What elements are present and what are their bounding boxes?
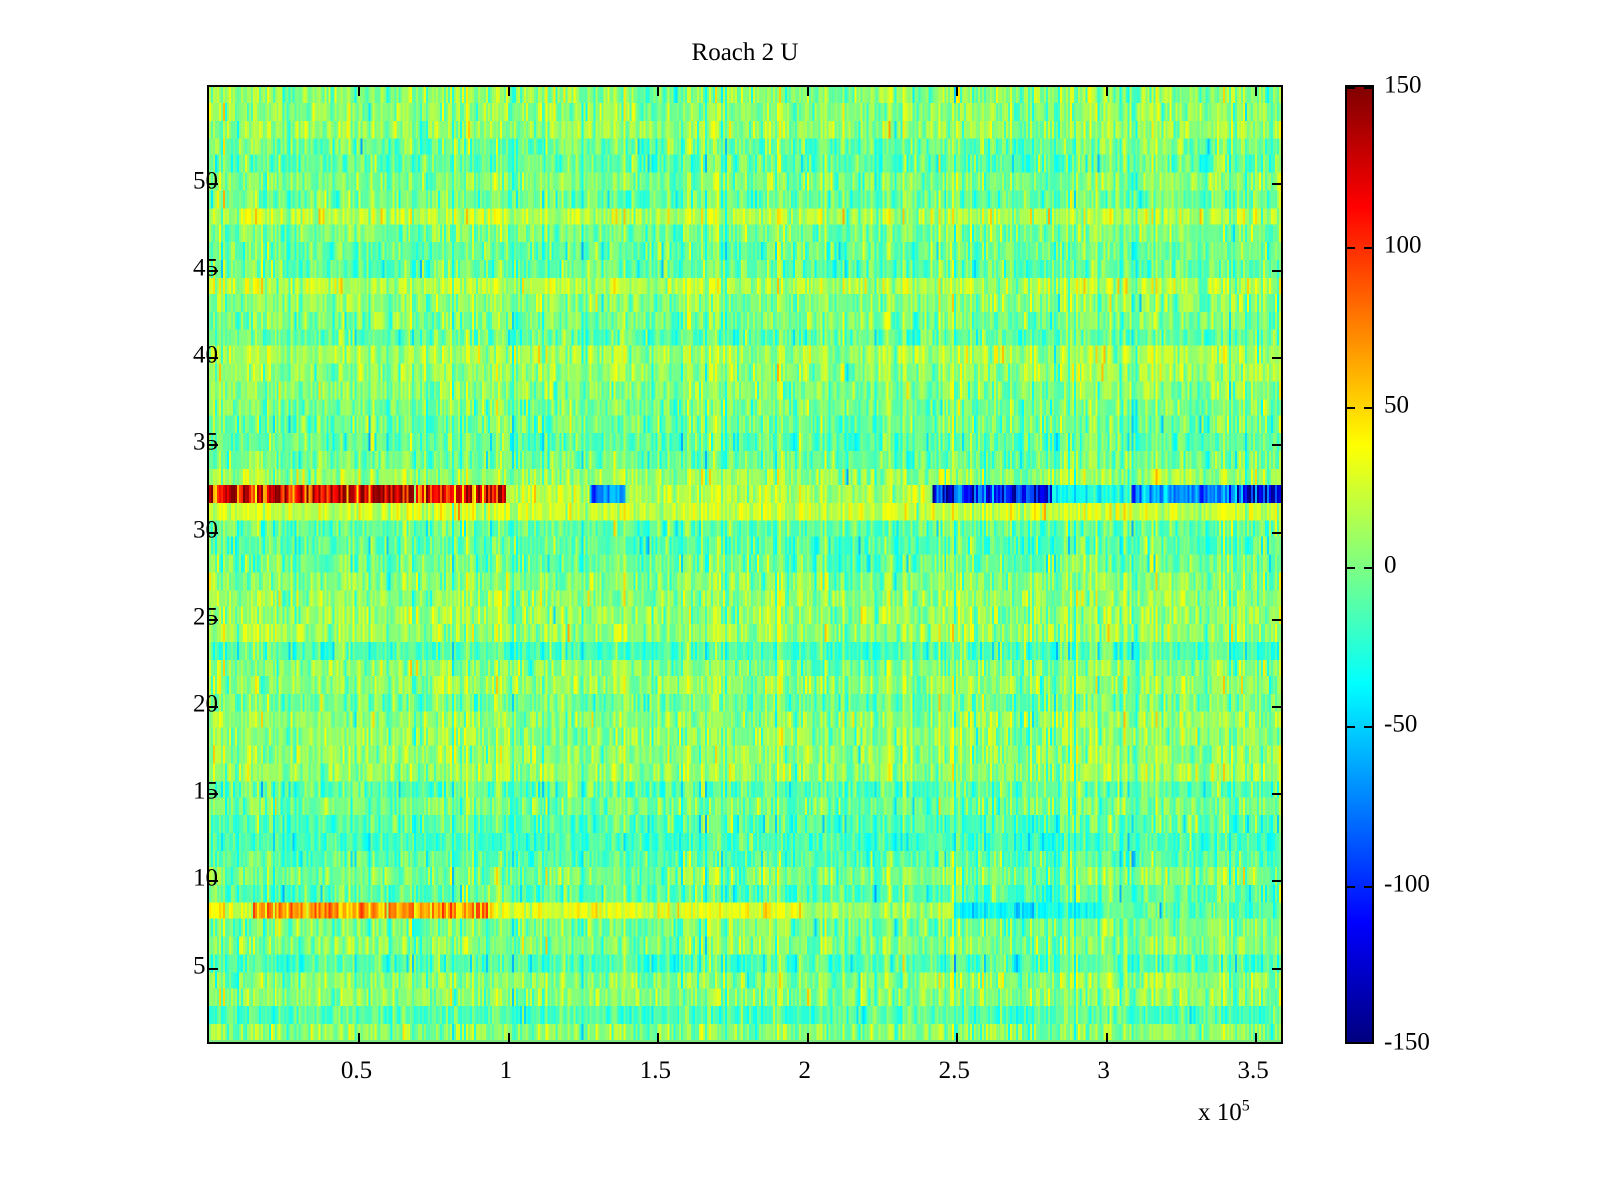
y-axis-tick [1272, 444, 1281, 446]
colorbar-tick-label: -150 [1384, 1030, 1430, 1055]
x-axis-tick [807, 87, 809, 96]
colorbar-tick-label: 100 [1384, 232, 1422, 257]
y-axis-tick [209, 357, 218, 359]
figure-canvas: Roach 2 U 0.511.522.533.5 51015202530354… [0, 0, 1600, 1200]
y-axis-tick [209, 183, 218, 185]
colorbar-tick-label: 50 [1384, 392, 1409, 417]
heatmap-image [209, 87, 1281, 1042]
y-axis-tick [1272, 183, 1281, 185]
colorbar-tick-label: 0 [1384, 552, 1397, 577]
x-exponent-power: 5 [1242, 1098, 1250, 1115]
x-axis-tick [358, 87, 360, 96]
x-axis-tick [1106, 1033, 1108, 1042]
x-axis-tick-label: 2 [799, 1058, 812, 1083]
y-axis-tick [209, 706, 218, 708]
colorbar[interactable] [1345, 85, 1374, 1044]
colorbar-tick [1364, 567, 1372, 569]
x-axis-tick-label: 1.5 [640, 1058, 671, 1083]
colorbar-tick [1364, 407, 1372, 409]
x-axis-tick [1255, 1033, 1257, 1042]
x-axis-tick [956, 1033, 958, 1042]
colorbar-tick [1347, 726, 1355, 728]
x-axis-tick-label: 2.5 [939, 1058, 970, 1083]
x-axis-tick [807, 1033, 809, 1042]
x-axis-tick [508, 87, 510, 96]
y-axis-tick [1272, 270, 1281, 272]
y-axis-tick [1272, 357, 1281, 359]
colorbar-tick [1364, 87, 1372, 89]
x-axis-tick [1106, 87, 1108, 96]
colorbar-tick-label: 150 [1384, 73, 1422, 98]
y-axis-tick [209, 270, 218, 272]
page-title: Roach 2 U [207, 40, 1283, 65]
y-axis-tick [1272, 619, 1281, 621]
x-axis-tick [657, 87, 659, 96]
y-axis-tick [1272, 706, 1281, 708]
colorbar-tick-label: -100 [1384, 872, 1430, 897]
colorbar-tick [1364, 726, 1372, 728]
x-axis-tick-label: 1 [500, 1058, 513, 1083]
x-axis-tick [956, 87, 958, 96]
x-axis-tick-label: 3.5 [1237, 1058, 1268, 1083]
y-axis-tick [209, 532, 218, 534]
x-exponent-base: x 10 [1198, 1099, 1242, 1126]
x-axis-tick [1255, 87, 1257, 96]
y-axis-tick [209, 619, 218, 621]
x-axis-tick [657, 1033, 659, 1042]
y-axis-tick [209, 880, 218, 882]
y-axis-tick [209, 793, 218, 795]
y-axis-tick [209, 968, 218, 970]
y-axis-tick [1272, 880, 1281, 882]
x-axis-tick [358, 1033, 360, 1042]
colorbar-tick [1347, 87, 1355, 89]
colorbar-tick [1347, 247, 1355, 249]
colorbar-tick [1347, 567, 1355, 569]
colorbar-tick [1364, 886, 1372, 888]
colorbar-tick [1347, 407, 1355, 409]
x-axis-tick-label: 0.5 [341, 1058, 372, 1083]
y-axis-tick [1272, 532, 1281, 534]
colorbar-tick-label: -50 [1384, 712, 1417, 737]
y-axis-tick [1272, 793, 1281, 795]
x-axis-tick-label: 3 [1097, 1058, 1110, 1083]
y-axis-tick [1272, 968, 1281, 970]
colorbar-tick [1364, 247, 1372, 249]
colorbar-gradient [1347, 87, 1372, 1042]
heatmap-axes[interactable] [207, 85, 1283, 1044]
x-axis-exponent-label: x 105 [1198, 1100, 1250, 1125]
x-axis-tick [508, 1033, 510, 1042]
y-axis-tick [209, 444, 218, 446]
colorbar-tick [1347, 886, 1355, 888]
